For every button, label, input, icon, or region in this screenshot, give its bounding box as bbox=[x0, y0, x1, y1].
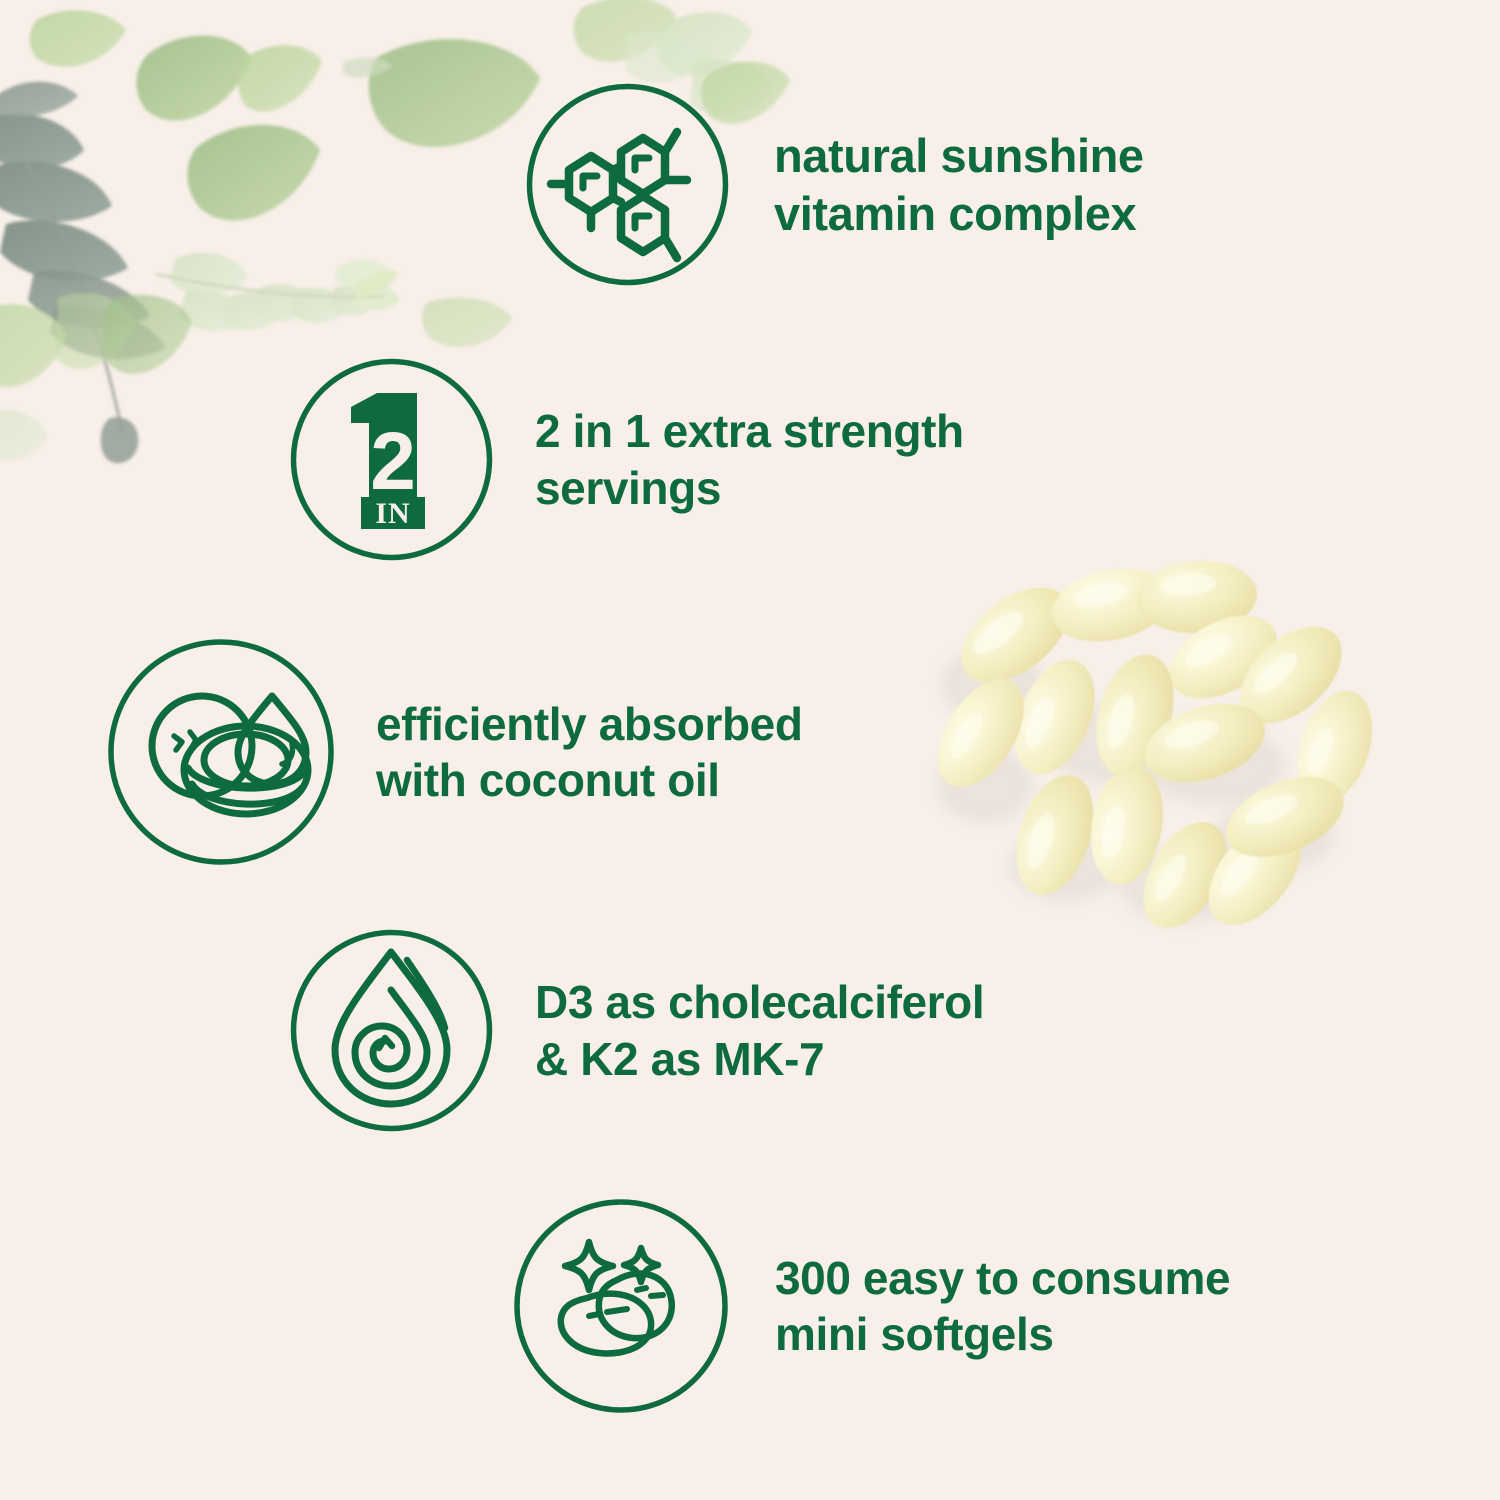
sparkling-softgels-icon bbox=[511, 1196, 731, 1416]
feature-row-2-in-1: 2 IN 2 in 1 extra strength servings bbox=[289, 357, 964, 562]
feature-row-d3-k2: D3 as cholecalciferol & K2 as MK-7 bbox=[289, 928, 984, 1133]
molecule-hexagons-icon bbox=[525, 82, 730, 287]
feature-row-mini-softgels: 300 easy to consume mini softgels bbox=[511, 1196, 1230, 1416]
coconut-oil-droplet-icon bbox=[106, 632, 336, 872]
infographic-canvas: natural sunshine vitamin complex 2 IN 2 … bbox=[0, 0, 1500, 1500]
feature-label: 2 in 1 extra strength servings bbox=[535, 403, 964, 515]
feature-label: natural sunshine vitamin complex bbox=[774, 127, 1144, 242]
feature-label: D3 as cholecalciferol & K2 as MK-7 bbox=[535, 974, 984, 1086]
badge-number: 2 bbox=[370, 416, 416, 507]
badge-in-label: IN bbox=[375, 497, 410, 530]
feature-row-coconut-oil: efficiently absorbed with coconut oil bbox=[106, 632, 803, 872]
softgel-capsules-photo bbox=[915, 535, 1380, 965]
feature-label: 300 easy to consume mini softgels bbox=[775, 1250, 1230, 1362]
two-in-one-numeral-icon: 2 IN bbox=[289, 357, 494, 562]
spiral-droplet-icon bbox=[289, 928, 494, 1133]
feature-row-natural-sunshine: natural sunshine vitamin complex bbox=[525, 82, 1144, 287]
feature-label: efficiently absorbed with coconut oil bbox=[376, 696, 803, 808]
